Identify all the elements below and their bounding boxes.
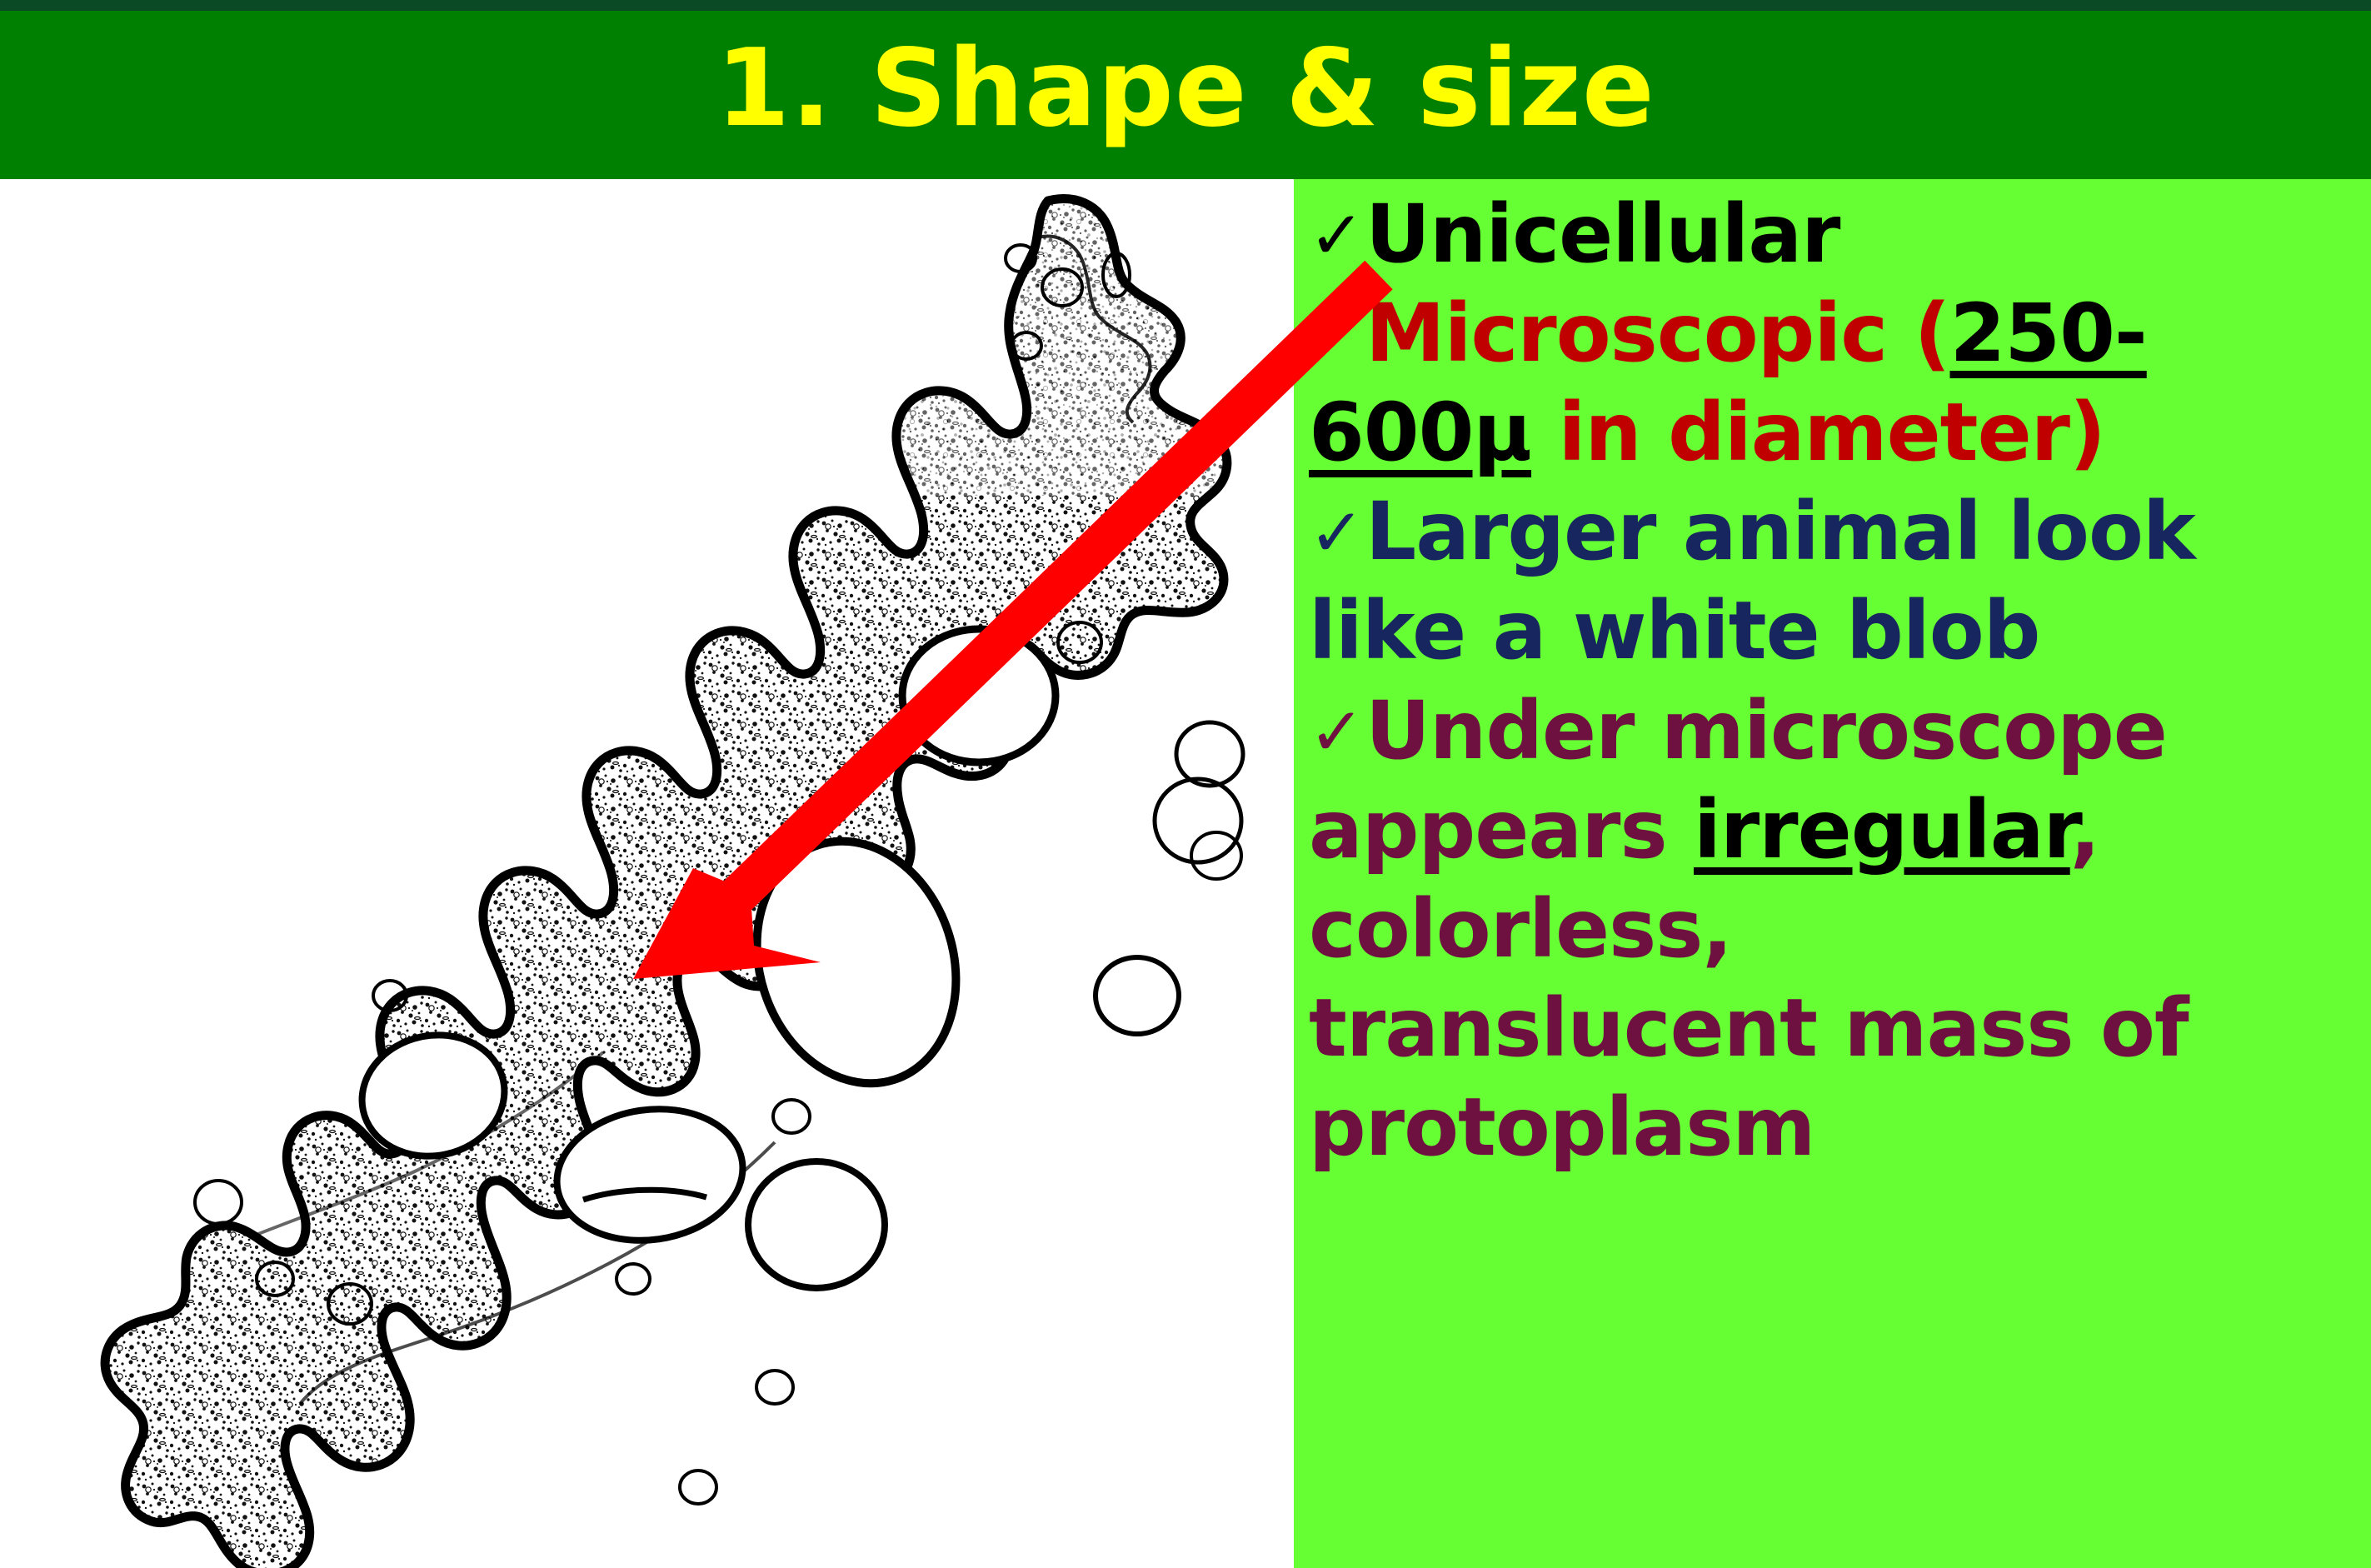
bullet-text-translucent: translucent mass of [1309,981,2189,1075]
bullet-text-protoplasm: protoplasm [1309,1081,1814,1174]
food-vacuole-13 [773,1100,810,1133]
food-vacuole-14 [616,1264,650,1294]
bullet-text-larger-animal: Larger animal look [1365,485,2195,578]
bullet-list: ✓Unicellular ✓Microscopic (250- 600µ in … [1309,186,2371,1178]
bullet-item-appears-irregular: appears irregular, [1309,782,2371,879]
bullet-item-larger-animal-cont: like a white blob [1309,582,2371,680]
amoeba-image-panel [0,179,1294,1568]
bullet-text-in-diameter: in diameter) [1531,386,2105,479]
checkmark-icon: ✓ [1309,494,1365,572]
slide: 1. Shape & size [0,0,2371,1568]
bullet-item-colorless: colorless, [1309,881,2371,978]
food-vacuole-7 [1191,832,1241,879]
food-vacuole-16 [680,1471,716,1504]
bullet-item-microscopic: ✓Microscopic (250- [1309,285,2371,382]
bullet-text-microscopic-a: Microscopic ( [1365,287,1949,380]
content-text-panel: ✓Unicellular ✓Microscopic (250- 600µ in … [1294,179,2371,1568]
food-vacuole-1 [902,629,1056,762]
food-vacuole-3 [748,1161,885,1288]
slide-header: 1. Shape & size [0,11,2371,179]
bullet-item-translucent: translucent mass of [1309,980,2371,1077]
food-vacuole-15 [756,1371,793,1404]
bullet-text-size-range-b: 600µ [1309,386,1531,479]
food-vacuole-4 [1096,957,1179,1034]
amoeba-diagram [0,179,1294,1568]
bullet-text-under-microscope: Under microscope [1365,684,2167,777]
bullet-text-white-blob: like a white blob [1309,584,2039,677]
page-title: 1. Shape & size [0,11,2371,171]
bullet-item-protoplasm: protoplasm [1309,1079,2371,1176]
checkmark-icon: ✓ [1309,197,1365,274]
bullet-text-colorless: colorless, [1309,882,1732,976]
bullet-text-irregular: irregular [1694,783,2070,876]
food-vacuole-9 [195,1181,242,1224]
bullet-text-unicellular: Unicellular [1365,187,1839,281]
top-accent-strip [0,0,2371,11]
bullet-item-larger-animal: ✓Larger animal look [1309,483,2371,581]
food-vacuole-5 [1176,722,1243,786]
bullet-text-appears: appears [1309,783,1694,876]
bullet-item-unicellular: ✓Unicellular [1309,186,2371,283]
checkmark-icon: ✓ [1309,693,1365,771]
checkmark-icon: ✓ [1309,296,1365,373]
bullet-item-under-microscope: ✓Under microscope [1309,682,2371,780]
bullet-item-microscopic-cont: 600µ in diameter) [1309,384,2371,482]
bullet-text-size-range-a: 250- [1950,287,2147,380]
amoeba-cell [0,179,1294,1568]
bullet-text-comma: , [2070,783,2099,876]
food-vacuole-6 [1155,779,1241,862]
